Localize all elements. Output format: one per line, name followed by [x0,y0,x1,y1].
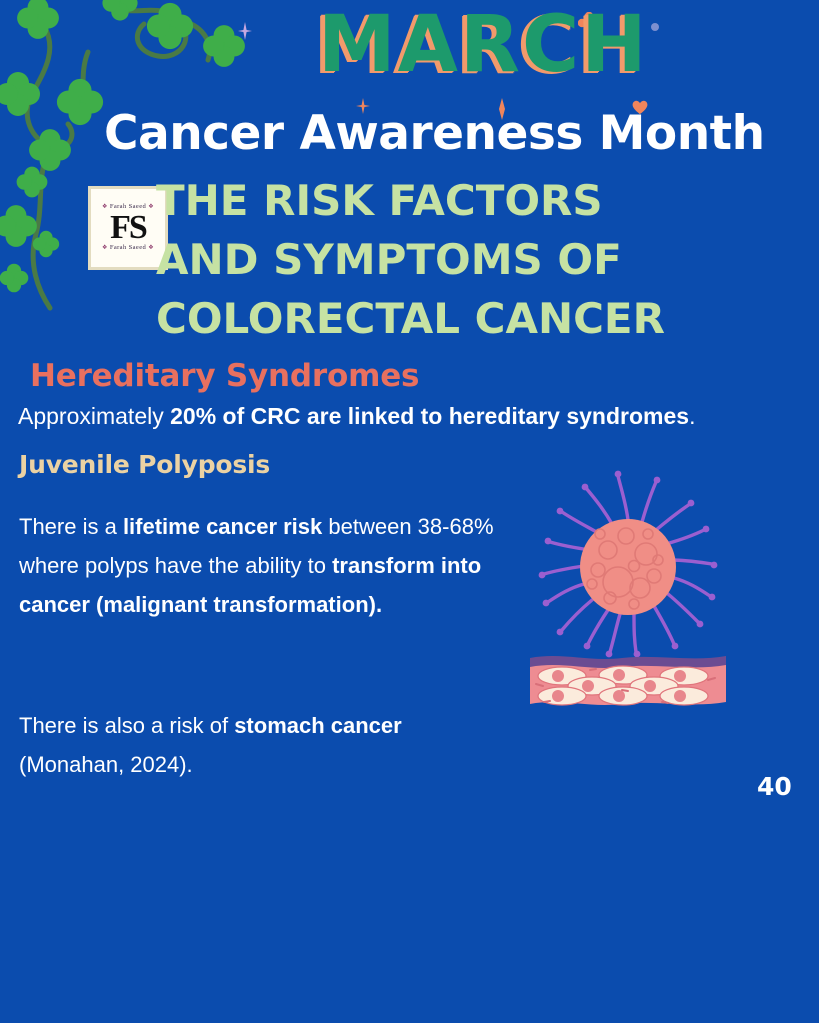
intro-statement: Approximately 20% of CRC are linked to h… [18,402,798,432]
slide-canvas: MARCH Cancer Awareness Month ❖ Farah Sae… [0,0,819,1023]
para1-bold-1: lifetime cancer risk [123,514,322,539]
intro-bold: 20% of CRC are linked to hereditary synd… [170,403,689,429]
subtitle-line-3: COLORECTAL CANCER [156,290,756,349]
sparkle-star-icon [238,22,252,40]
subtitle-block: THE RISK FACTORS AND SYMPTOMS OF COLOREC… [156,172,756,348]
march-word: MARCH [318,6,678,84]
intro-suffix: . [689,403,695,429]
para2-part-2: (Monahan, 2024). [19,752,193,777]
tissue-layer [530,656,726,705]
body-paragraph-2: There is also a risk of stomach cancer (… [19,707,509,785]
para2-part-1: There is also a risk of [19,713,234,738]
logo-initials: FS [110,213,146,244]
subtitle-line-2: AND SYMPTOMS OF [156,231,756,290]
page-number: 40 [757,772,792,801]
logo-dot-icon: ❖ [102,245,108,251]
logo-bottom-text: Farah Saeed [110,244,146,251]
para1-part-1: There is a [19,514,123,539]
polyp-cell-tissue-illustration [522,462,734,707]
logo-dot-icon: ❖ [148,245,154,251]
sub-heading: Juvenile Polyposis [19,450,270,479]
body-paragraph-1: There is a lifetime cancer risk between … [19,508,509,625]
logo-dot-icon: ❖ [102,204,108,210]
para2-bold-1: stomach cancer [234,713,402,738]
subtitle-line-1: THE RISK FACTORS [156,172,756,231]
logo-dot-icon: ❖ [148,204,154,210]
march-title-block: MARCH [318,6,678,106]
section-heading: Hereditary Syndromes [30,358,419,394]
intro-prefix: Approximately [18,403,170,429]
page-title: Cancer Awareness Month [104,108,819,160]
logo-bottom-band: ❖ Farah Saeed ❖ [102,245,154,252]
